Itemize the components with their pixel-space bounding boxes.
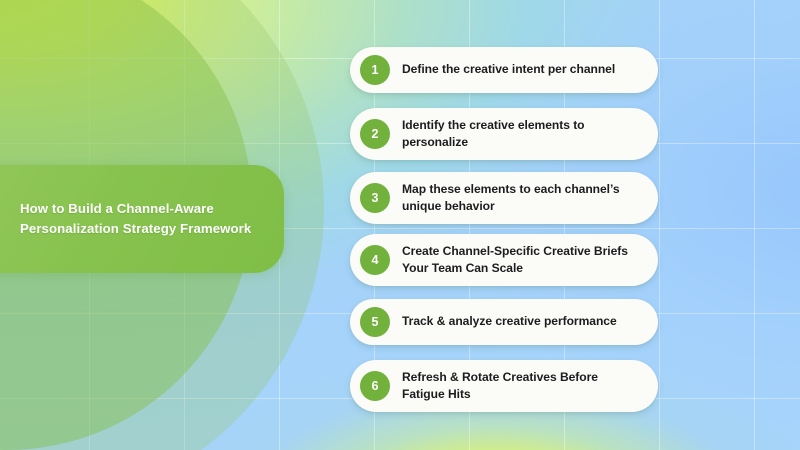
- step-card-3[interactable]: 3 Map these elements to each channel’s u…: [350, 172, 658, 224]
- step-number-badge-2: 2: [360, 119, 390, 149]
- step-card-1[interactable]: 1 Define the creative intent per channel: [350, 47, 658, 93]
- step-number-badge-6: 6: [360, 371, 390, 401]
- step-label-3: Map these elements to each channel’s uni…: [402, 181, 642, 215]
- step-label-4: Create Channel-Specific Creative Briefs …: [402, 243, 642, 277]
- title-card: How to Build a Channel-Aware Personaliza…: [0, 165, 284, 273]
- steps-list: 1 Define the creative intent per channel…: [350, 0, 658, 450]
- step-number-badge-3: 3: [360, 183, 390, 213]
- step-label-1: Define the creative intent per channel: [402, 61, 615, 78]
- step-number-badge-5: 5: [360, 307, 390, 337]
- step-card-5[interactable]: 5 Track & analyze creative performance: [350, 299, 658, 345]
- step-label-6: Refresh & Rotate Creatives Before Fatigu…: [402, 369, 642, 403]
- page-title-line-1: How to Build a Channel-Aware: [20, 199, 251, 219]
- step-card-6[interactable]: 6 Refresh & Rotate Creatives Before Fati…: [350, 360, 658, 412]
- step-card-4[interactable]: 4 Create Channel-Specific Creative Brief…: [350, 234, 658, 286]
- step-number-badge-4: 4: [360, 245, 390, 275]
- step-label-5: Track & analyze creative performance: [402, 313, 617, 330]
- step-label-2: Identify the creative elements to person…: [402, 117, 642, 151]
- step-number-badge-1: 1: [360, 55, 390, 85]
- step-card-2[interactable]: 2 Identify the creative elements to pers…: [350, 108, 658, 160]
- infographic-canvas: How to Build a Channel-Aware Personaliza…: [0, 0, 800, 450]
- page-title-line-2: Personalization Strategy Framework: [20, 219, 251, 239]
- page-title: How to Build a Channel-Aware Personaliza…: [20, 199, 251, 240]
